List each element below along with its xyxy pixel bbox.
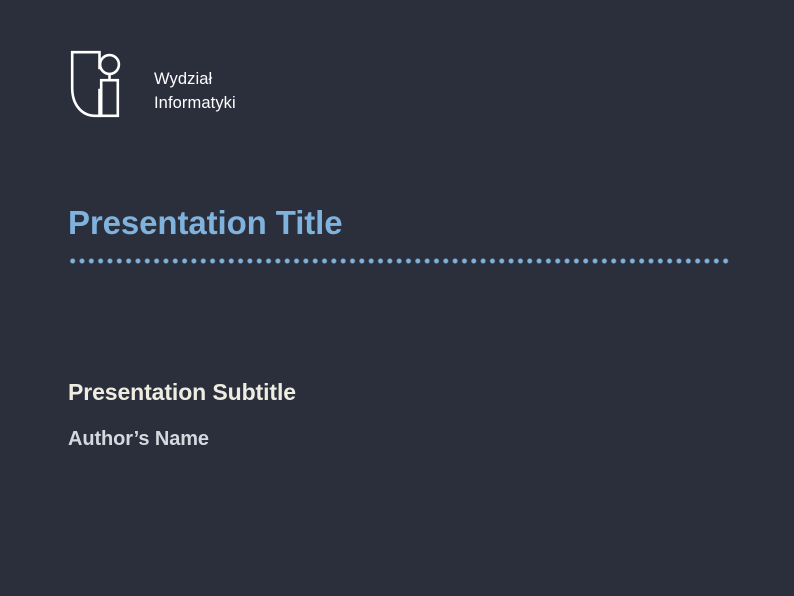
wydzial-informatyki-logo-icon (68, 48, 124, 120)
dotted-divider (68, 258, 731, 264)
organization-name-line1: Wydział (154, 67, 236, 91)
presentation-title-slide: Wydział Informatyki Presentation Title P… (0, 0, 794, 596)
author-name: Author’s Name (68, 428, 209, 451)
presentation-title: Presentation Title (68, 205, 343, 241)
presentation-subtitle: Presentation Subtitle (68, 379, 296, 405)
organization-name-line2: Informatyki (154, 91, 236, 115)
organization-name: Wydział Informatyki (154, 67, 236, 116)
brand-logo-block: Wydział Informatyki (68, 48, 236, 120)
